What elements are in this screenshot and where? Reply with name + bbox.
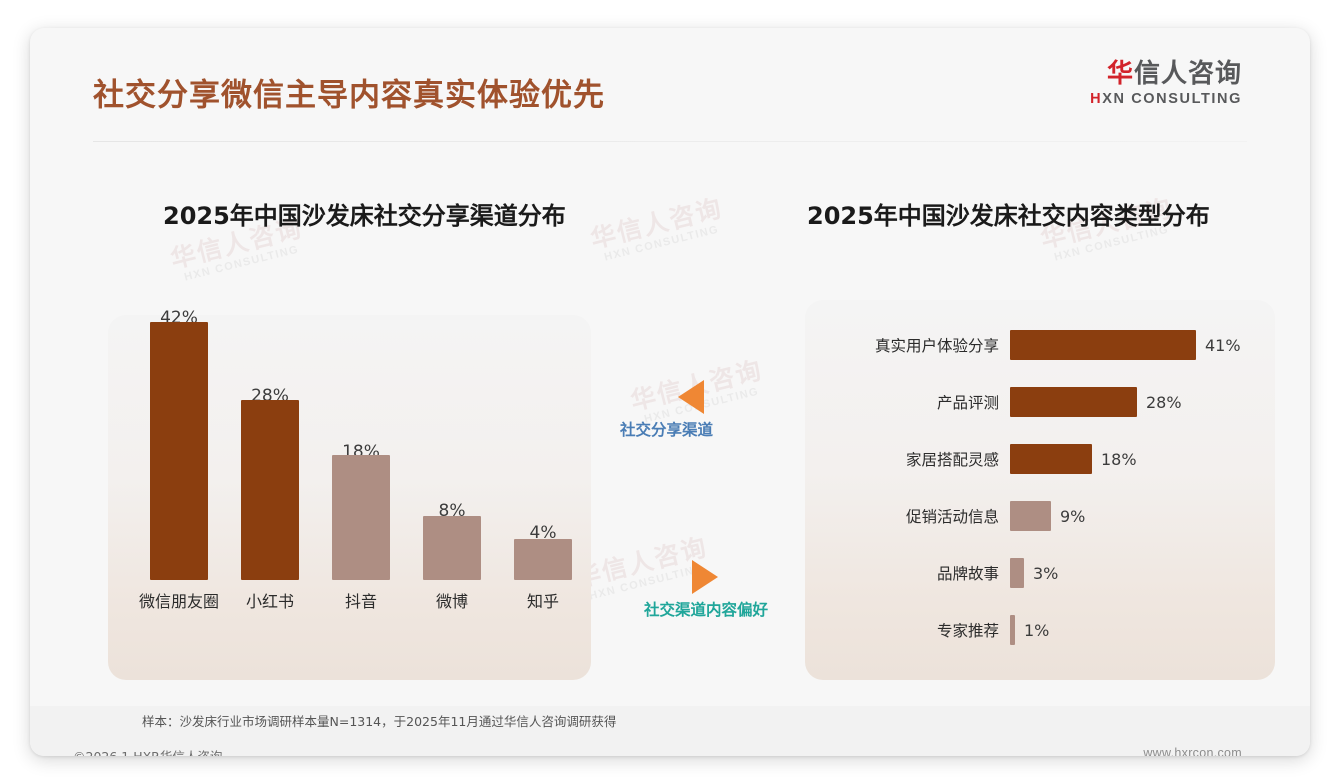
watermark-en: HXN CONSULTING xyxy=(175,241,309,285)
hbar-value-label: 28% xyxy=(1146,393,1182,412)
hbar-row: 真实用户体验分享 41% xyxy=(820,326,1270,364)
hbar-category-label: 产品评测 xyxy=(820,391,1010,413)
hbar-row: 品牌故事 3% xyxy=(820,554,1270,592)
bar-column: 28% 小红书 xyxy=(225,290,315,620)
bar-rect[interactable] xyxy=(423,516,481,580)
hbar-value-label: 3% xyxy=(1033,564,1058,583)
logo-english: HXN CONSULTING xyxy=(1090,91,1242,107)
footnote: 样本：沙发床行业市场调研样本量N=1314，于2025年11月通过华信人咨询调研… xyxy=(142,711,616,730)
annotation-label-left: 社交分享渠道 xyxy=(618,418,828,440)
header-divider xyxy=(93,141,1247,142)
chart-title-right: 2025年中国沙发床社交内容类型分布 xyxy=(807,196,1210,231)
annotation-social-channel: 社交分享渠道 xyxy=(618,380,828,440)
triangle-left-icon xyxy=(678,380,704,414)
footer-website[interactable]: www.hxrcon.com xyxy=(1143,746,1242,756)
logo-en-rest: XN CONSULTING xyxy=(1102,91,1242,107)
annotation-label-right: 社交渠道内容偏好 xyxy=(630,598,845,620)
hbar-row: 专家推荐 1% xyxy=(820,611,1270,649)
bar-column: 18% 抖音 xyxy=(316,290,406,620)
triangle-right-icon xyxy=(692,560,718,594)
hbar-category-label: 家居搭配灵感 xyxy=(820,448,1010,470)
watermark-en: HXN CONSULTING xyxy=(595,221,729,265)
logo-cn-rest: 信人咨询 xyxy=(1134,59,1242,89)
hbar-track: 1% xyxy=(1010,615,1270,645)
hbar-value-label: 41% xyxy=(1205,336,1241,355)
hbar-row: 产品评测 28% xyxy=(820,383,1270,421)
hbar-track: 41% xyxy=(1010,330,1270,360)
logo-chinese: 华信人咨询 xyxy=(1090,61,1242,88)
hbar-row: 家居搭配灵感 18% xyxy=(820,440,1270,478)
bar-column: 42% 微信朋友圈 xyxy=(134,290,224,620)
hbar-track: 18% xyxy=(1010,444,1270,474)
hbar-track: 3% xyxy=(1010,558,1270,588)
chart-title-left: 2025年中国沙发床社交分享渠道分布 xyxy=(163,196,566,231)
logo-cn-accent: 华 xyxy=(1107,59,1134,89)
vertical-bar-chart: 42% 微信朋友圈 28% 小红书 18% 抖音 8% 微博 4% 知乎 xyxy=(134,290,604,620)
hbar-rect[interactable] xyxy=(1010,558,1024,588)
hbar-track: 28% xyxy=(1010,387,1270,417)
bar-category-label: 小红书 xyxy=(246,588,294,612)
brand-logo: 华信人咨询 HXN CONSULTING xyxy=(1090,61,1242,107)
bar-column: 4% 知乎 xyxy=(498,290,588,620)
hbar-row: 促销活动信息 9% xyxy=(820,497,1270,535)
horizontal-bar-chart: 真实用户体验分享 41% 产品评测 28% 家居搭配灵感 18% 促销活动信息 xyxy=(820,316,1270,661)
slide-card: 华信人咨询 HXN CONSULTING 华信人咨询 HXN CONSULTIN… xyxy=(30,28,1310,756)
hbar-category-label: 真实用户体验分享 xyxy=(820,334,1010,356)
hbar-rect[interactable] xyxy=(1010,387,1137,417)
bar-category-label: 微信朋友圈 xyxy=(139,588,219,612)
page-title: 社交分享微信主导内容真实体验优先 xyxy=(93,70,605,115)
hbar-rect[interactable] xyxy=(1010,330,1196,360)
bar-category-label: 抖音 xyxy=(345,588,377,612)
bar-column: 8% 微博 xyxy=(407,290,497,620)
hbar-rect[interactable] xyxy=(1010,501,1051,531)
hbar-rect[interactable] xyxy=(1010,444,1092,474)
bar-rect[interactable] xyxy=(332,455,390,580)
bar-rect[interactable] xyxy=(241,400,299,580)
annotation-content-preference: 社交渠道内容偏好 xyxy=(630,560,845,620)
hbar-category-label: 品牌故事 xyxy=(820,562,1010,584)
bar-category-label: 微博 xyxy=(436,588,468,612)
slide-header: 社交分享微信主导内容真实体验优先 华信人咨询 HXN CONSULTING xyxy=(30,28,1310,136)
bar-rect[interactable] xyxy=(150,322,208,580)
bar-rect[interactable] xyxy=(514,539,572,580)
footer-copyright: ©2026.1 HXR华信人咨询 xyxy=(73,746,222,756)
hbar-track: 9% xyxy=(1010,501,1270,531)
hbar-value-label: 9% xyxy=(1060,507,1085,526)
hbar-category-label: 促销活动信息 xyxy=(820,505,1010,527)
logo-en-accent: H xyxy=(1090,91,1102,107)
watermark-cn: 华信人咨询 xyxy=(586,188,726,256)
hbar-rect[interactable] xyxy=(1010,615,1015,645)
bar-category-label: 知乎 xyxy=(527,588,559,612)
hbar-value-label: 18% xyxy=(1101,450,1137,469)
hbar-category-label: 专家推荐 xyxy=(820,619,1010,641)
hbar-value-label: 1% xyxy=(1024,621,1049,640)
